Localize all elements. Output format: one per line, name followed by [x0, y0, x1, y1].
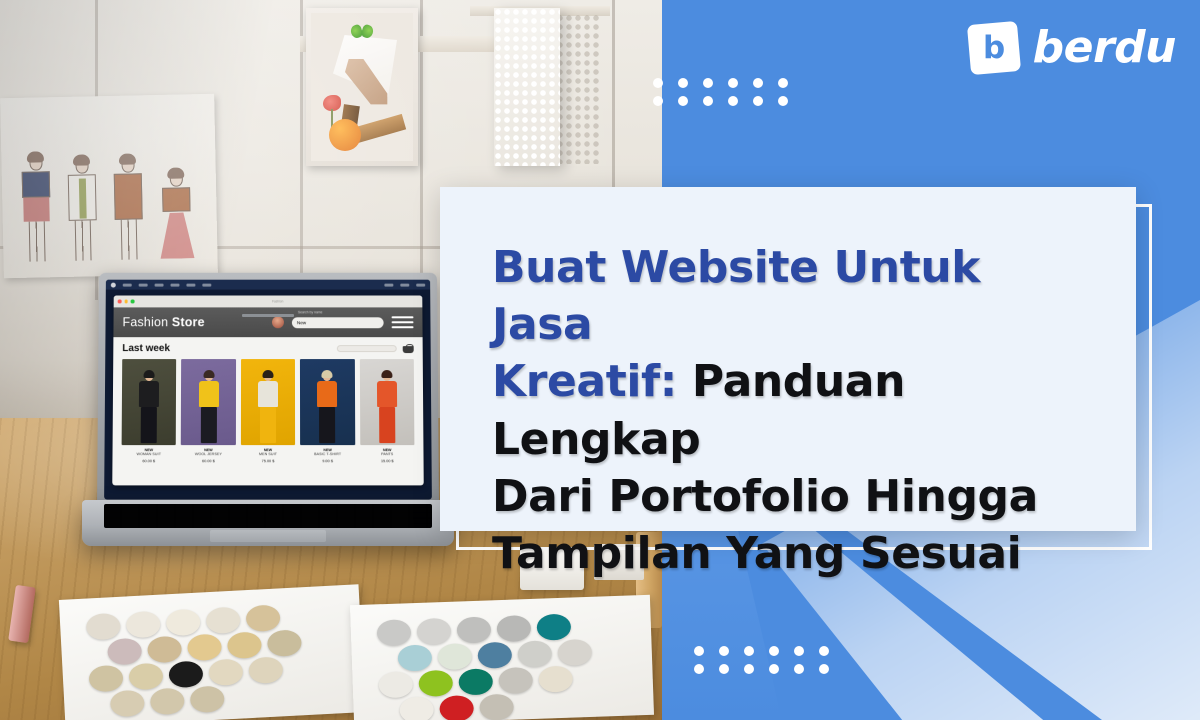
laptop-latch — [242, 314, 294, 317]
berdu-logo[interactable]: b berdu — [969, 22, 1176, 73]
fabric-swatch — [456, 616, 491, 643]
fabric-swatch — [417, 618, 452, 645]
title-card: Buat Website Untuk Jasa Kreatif: Panduan… — [440, 187, 1136, 531]
fabric-swatch — [168, 661, 203, 689]
fabric-swatch — [107, 638, 142, 666]
close-icon[interactable] — [118, 300, 122, 303]
os-menu-bar — [106, 280, 430, 290]
product-name: WOMAN SUIT — [122, 452, 177, 456]
headline-line3: Dari Portofolio Hingga — [492, 471, 1038, 522]
catalog-search-input[interactable] — [337, 345, 397, 352]
product-price: 60.00 $ — [181, 459, 236, 463]
headline-line4: Tampilan Yang Sesuai — [492, 528, 1021, 579]
fabric-swatch — [147, 636, 182, 664]
model-figure — [312, 371, 342, 445]
page-title: Buat Website Untuk Jasa Kreatif: Panduan… — [492, 239, 1090, 582]
site-header: Fashion Store Search by name New — [113, 307, 422, 337]
fabric-swatch — [166, 609, 201, 637]
laptop-base — [82, 500, 454, 546]
product-name: WOOL JERSEY — [181, 452, 236, 456]
product-card[interactable]: NEWWOMAN SUIT60.00 $ — [121, 359, 176, 463]
fabric-swatch — [377, 619, 412, 646]
dot-grid-top — [645, 74, 795, 110]
product-card[interactable]: NEWBASIC T-SHIRT9.00 $ — [300, 359, 355, 463]
trackpad[interactable] — [210, 530, 326, 542]
fabric-swatch — [88, 665, 123, 693]
headline-accent-line1: Buat Website Untuk Jasa — [492, 242, 980, 350]
fabric-swatch — [86, 613, 121, 641]
fabric-swatch — [190, 685, 225, 713]
fabric-swatch — [110, 690, 145, 718]
poster-canvas: Fashion Fashion Store Search by name New — [0, 0, 1200, 720]
product-image[interactable] — [122, 359, 177, 445]
model-figure — [253, 371, 283, 445]
keyboard[interactable] — [104, 504, 432, 528]
fabric-swatch — [557, 639, 592, 666]
fabric-swatch-sheet — [59, 584, 365, 720]
product-image[interactable] — [359, 359, 414, 445]
product-card[interactable]: NEWWOOL JERSEY60.00 $ — [181, 359, 236, 463]
section-title: Last week — [122, 343, 170, 354]
fabric-swatch — [479, 694, 514, 720]
fabric-swatch — [498, 667, 533, 694]
apple-icon — [111, 282, 116, 287]
product-image[interactable] — [241, 359, 296, 445]
model-figure — [372, 371, 402, 445]
fabric-swatch — [458, 668, 493, 695]
fabric-swatch — [378, 671, 413, 698]
fabric-swatch — [536, 614, 571, 641]
model-figure — [134, 371, 164, 445]
hamburger-menu-icon[interactable] — [392, 317, 414, 328]
laptop-screen: Fashion Fashion Store Search by name New — [104, 280, 432, 500]
product-image[interactable] — [300, 359, 355, 445]
fabric-swatch — [538, 666, 573, 693]
berdu-logo-mark: b — [967, 20, 1021, 74]
laptop-lid: Fashion Fashion Store Search by name New — [97, 273, 439, 509]
browser-url[interactable]: Fashion — [137, 299, 418, 303]
avatar[interactable] — [272, 316, 284, 328]
browser-window: Fashion Fashion Store Search by name New — [112, 296, 423, 486]
headline-accent-line2: Kreatif: — [492, 356, 677, 407]
search-field-wrapper: Search by name New — [292, 317, 384, 328]
product-name: BASIC T-SHIRT — [300, 452, 355, 456]
fabric-swatch — [437, 643, 472, 670]
minimize-icon[interactable] — [124, 300, 128, 303]
fabric-swatch — [227, 631, 262, 659]
fabric-swatch-sheet — [350, 595, 654, 720]
product-image[interactable] — [181, 359, 236, 445]
dot-grid-bottom — [686, 642, 836, 678]
search-input[interactable]: New — [292, 317, 384, 328]
model-figure — [193, 371, 223, 445]
maximize-icon[interactable] — [131, 300, 135, 303]
product-card[interactable]: NEWPANTS15.00 $ — [359, 359, 414, 463]
cart-icon[interactable] — [403, 344, 414, 354]
fabric-swatch — [150, 688, 185, 716]
product-price: 15.00 $ — [360, 459, 415, 463]
fabric-swatch — [496, 615, 531, 642]
product-name: MEN SUIT — [241, 452, 296, 456]
fabric-swatch — [187, 634, 222, 662]
fabric-swatch — [399, 696, 434, 720]
product-price: 60.00 $ — [121, 459, 176, 463]
fabric-swatch — [205, 606, 240, 634]
logo-letter: b — [983, 32, 1005, 63]
product-card[interactable]: NEWMEN SUIT75.00 $ — [241, 359, 296, 463]
fabric-swatch — [126, 611, 161, 639]
fabric-swatch — [245, 604, 280, 632]
fabric-swatch — [517, 640, 552, 667]
product-price: 75.00 $ — [241, 459, 296, 463]
site-brand-light: Fashion — [122, 315, 171, 329]
site-content: Last week NEWWOMAN SUIT60.00 $NEWWOOL JE… — [112, 337, 423, 463]
logo-wordmark: berdu — [1033, 22, 1176, 73]
fabric-swatch — [477, 642, 512, 669]
laptop: Fashion Fashion Store Search by name New — [82, 272, 454, 584]
fabric-swatch — [397, 644, 432, 671]
browser-title-bar: Fashion — [114, 296, 423, 308]
product-grid: NEWWOMAN SUIT60.00 $NEWWOOL JERSEY60.00 … — [121, 359, 414, 463]
fabric-swatch — [267, 629, 302, 657]
fabric-swatch — [208, 658, 243, 686]
product-price: 9.00 $ — [300, 459, 355, 463]
search-label: Search by name — [298, 310, 323, 314]
fabric-swatch — [418, 670, 453, 697]
product-name: PANTS — [360, 452, 415, 456]
site-brand: Fashion Store — [122, 315, 204, 329]
site-brand-bold: Store — [172, 315, 205, 329]
fabric-swatch — [248, 656, 283, 684]
fabric-swatch — [439, 695, 474, 720]
fabric-swatch — [128, 663, 163, 691]
